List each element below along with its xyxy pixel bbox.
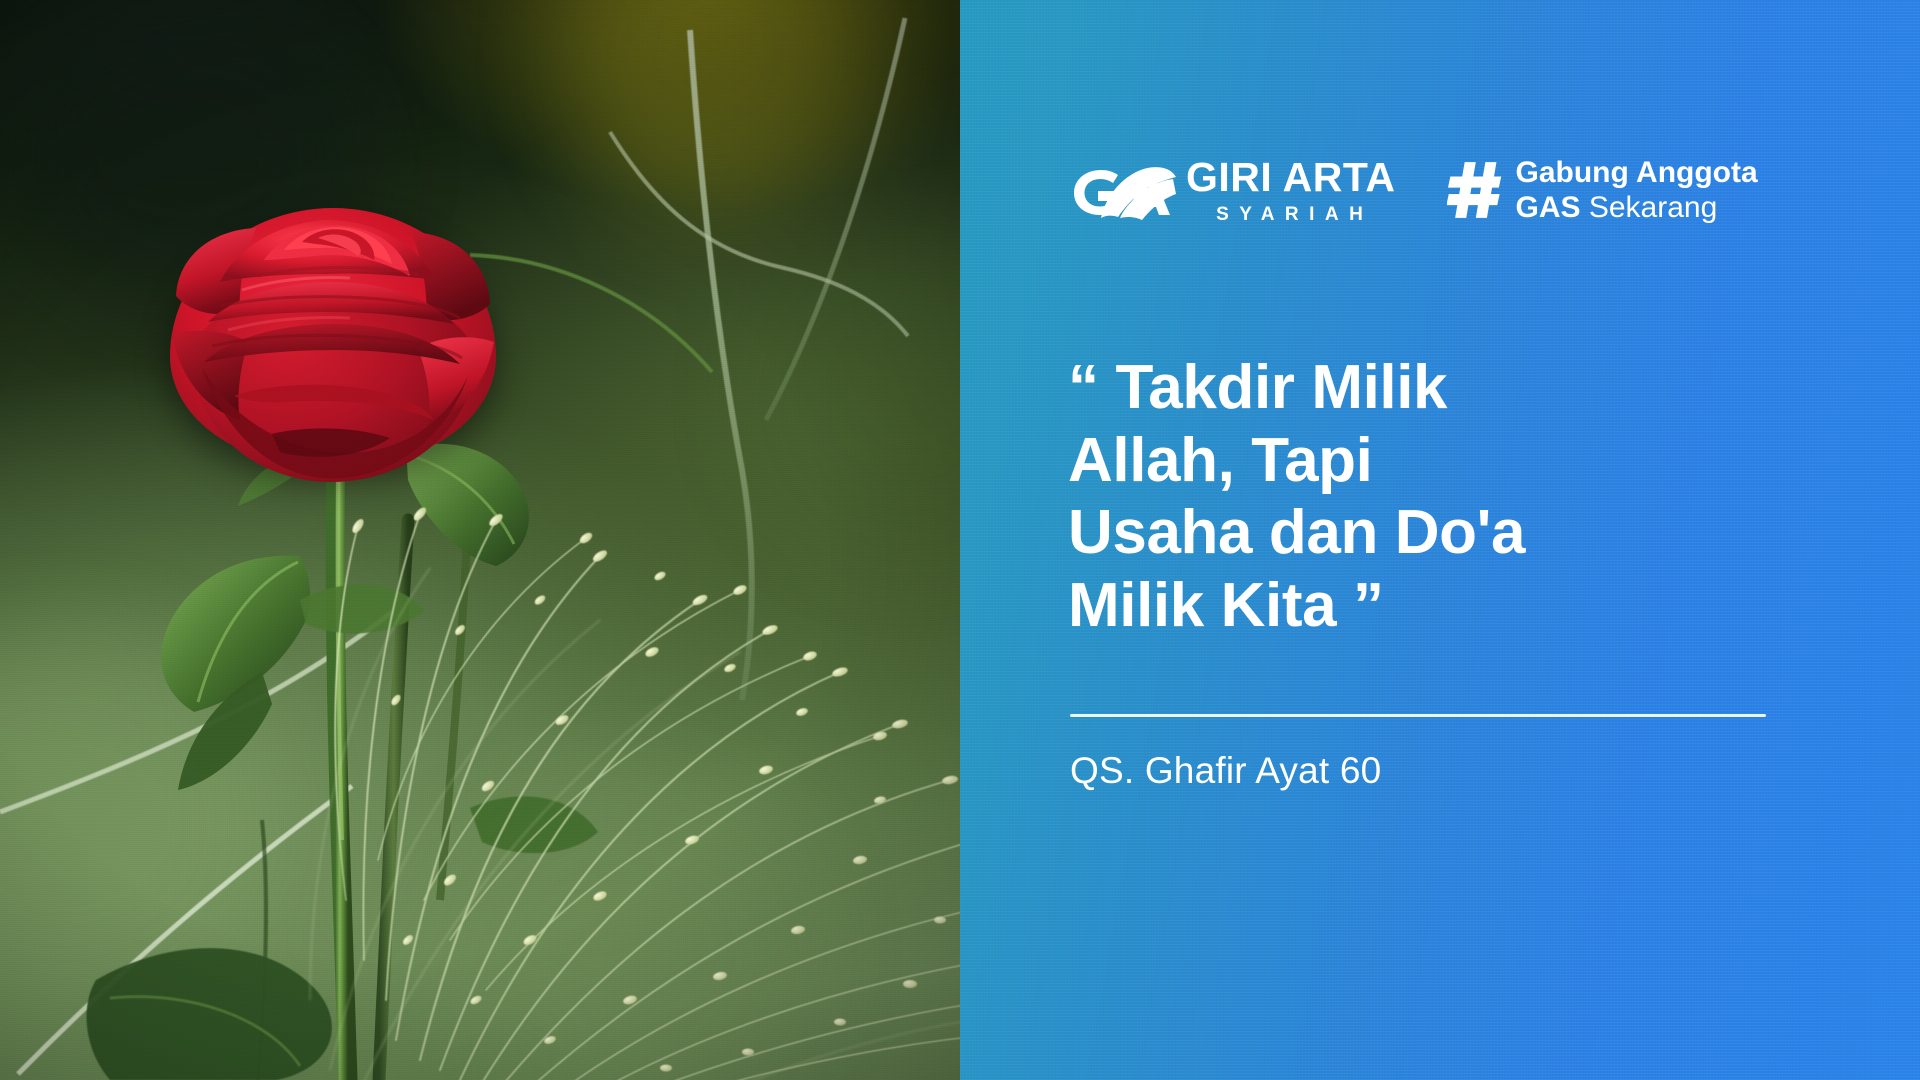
- hashtag-text: Gabung Anggota GAS Sekarang: [1515, 156, 1757, 224]
- quote-text: “ Takdir Milik Allah, Tapi Usaha dan Do'…: [1068, 352, 1858, 642]
- quote-close-mark: ”: [1353, 571, 1384, 640]
- giri-arta-ga-monogram-icon: [1070, 159, 1176, 221]
- brand-wordmark: GIRI ARTA SYARIAH: [1186, 157, 1395, 224]
- brand-subtitle: SYARIAH: [1186, 205, 1395, 224]
- quote-line-3: Usaha dan Do'a: [1068, 498, 1525, 567]
- quote-line-1: Takdir Milik: [1115, 353, 1447, 422]
- hashtag-icon: [1447, 159, 1503, 221]
- quote-open-mark: “: [1068, 353, 1099, 422]
- hashtag-gas-bold: GAS: [1515, 191, 1580, 224]
- photo-grain: [0, 0, 960, 1080]
- quote-line-4: Milik Kita: [1068, 571, 1336, 640]
- hashtag-sekarang: Sekarang: [1589, 191, 1717, 224]
- hashtag-line-1: Gabung Anggota: [1515, 156, 1757, 190]
- quote-panel: GIRI ARTA SYARIAH Gabung Anggota GAS Sek…: [960, 0, 1920, 1080]
- hashtag-callout: Gabung Anggota GAS Sekarang: [1447, 156, 1757, 224]
- rose-photograph: [0, 0, 960, 1080]
- brand-bar: GIRI ARTA SYARIAH Gabung Anggota GAS Sek…: [1070, 146, 1758, 234]
- quote-divider: [1070, 714, 1766, 717]
- hashtag-line-2: GAS Sekarang: [1515, 191, 1757, 225]
- quote-attribution: QS. Ghafir Ayat 60: [1070, 750, 1381, 792]
- brand-title: GIRI ARTA: [1186, 157, 1395, 198]
- poster-canvas: GIRI ARTA SYARIAH Gabung Anggota GAS Sek…: [0, 0, 1920, 1080]
- quote-line-2: Allah, Tapi: [1068, 426, 1372, 495]
